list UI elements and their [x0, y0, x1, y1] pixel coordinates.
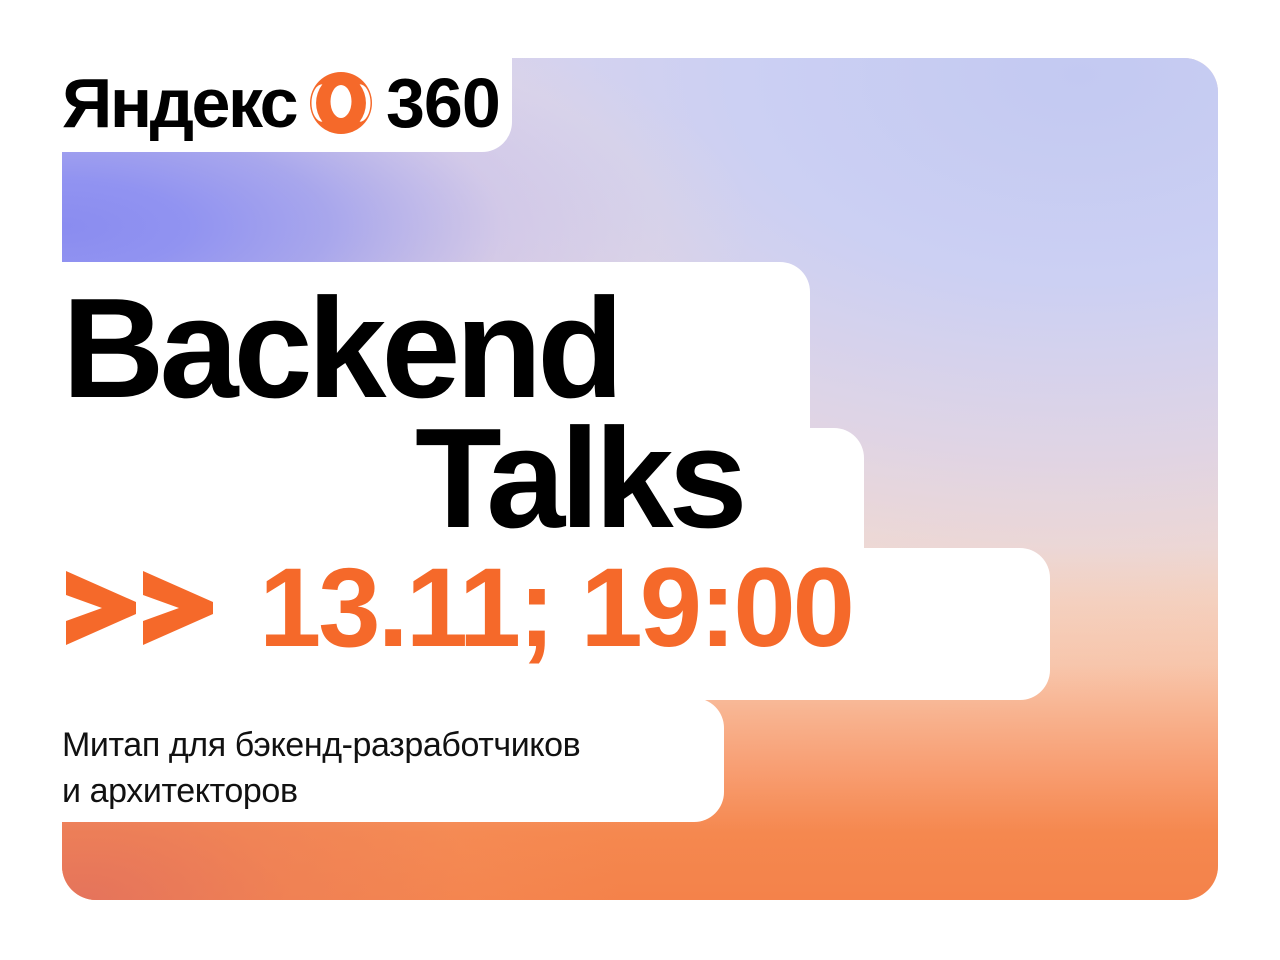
- content-layer: Яндекс 360 Backend Talks 13.11; 19:00 Ми…: [0, 0, 1280, 960]
- brand-name: Яндекс: [62, 68, 296, 138]
- yandex-360-logo: Яндекс 360: [62, 68, 500, 138]
- event-subtitle: Митап для бэкенд-разработчиков и архитек…: [62, 723, 580, 814]
- event-datetime: 13.11; 19:00: [259, 552, 852, 664]
- headline-line-2: Talks: [415, 408, 743, 550]
- promo-banner: Яндекс 360 Backend Talks 13.11; 19:00 Ми…: [0, 0, 1280, 960]
- yandex-360-mark-icon: [310, 72, 372, 134]
- date-row: 13.11; 19:00: [62, 552, 852, 664]
- double-chevron-right-icon: [62, 565, 217, 651]
- brand-product: 360: [386, 68, 500, 138]
